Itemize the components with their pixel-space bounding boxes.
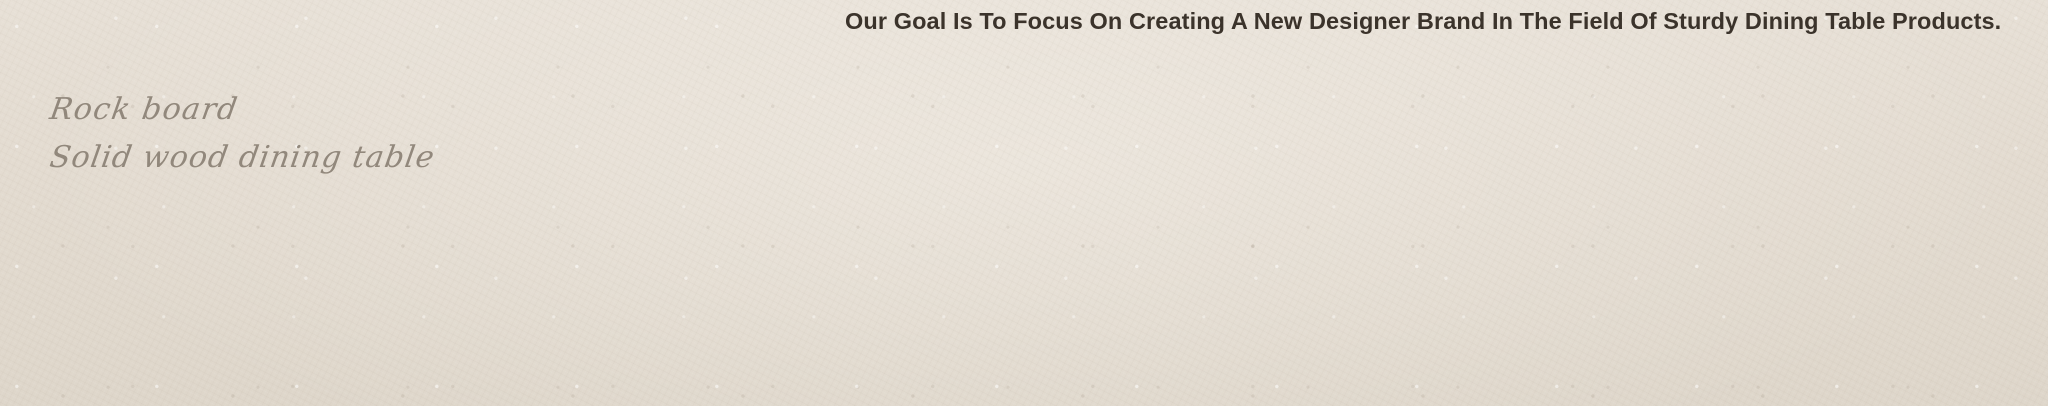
script-caption-block: Rock board Solid wood dining table [50, 86, 435, 182]
headline-text: Our Goal Is To Focus On Creating A New D… [845, 6, 1965, 36]
banner-content: Our Goal Is To Focus On Creating A New D… [0, 0, 2048, 406]
script-caption-line-2: Solid wood dining table [46, 134, 438, 182]
script-caption-line-1: Rock board [46, 86, 438, 134]
product-banner: Our Goal Is To Focus On Creating A New D… [0, 0, 2048, 406]
